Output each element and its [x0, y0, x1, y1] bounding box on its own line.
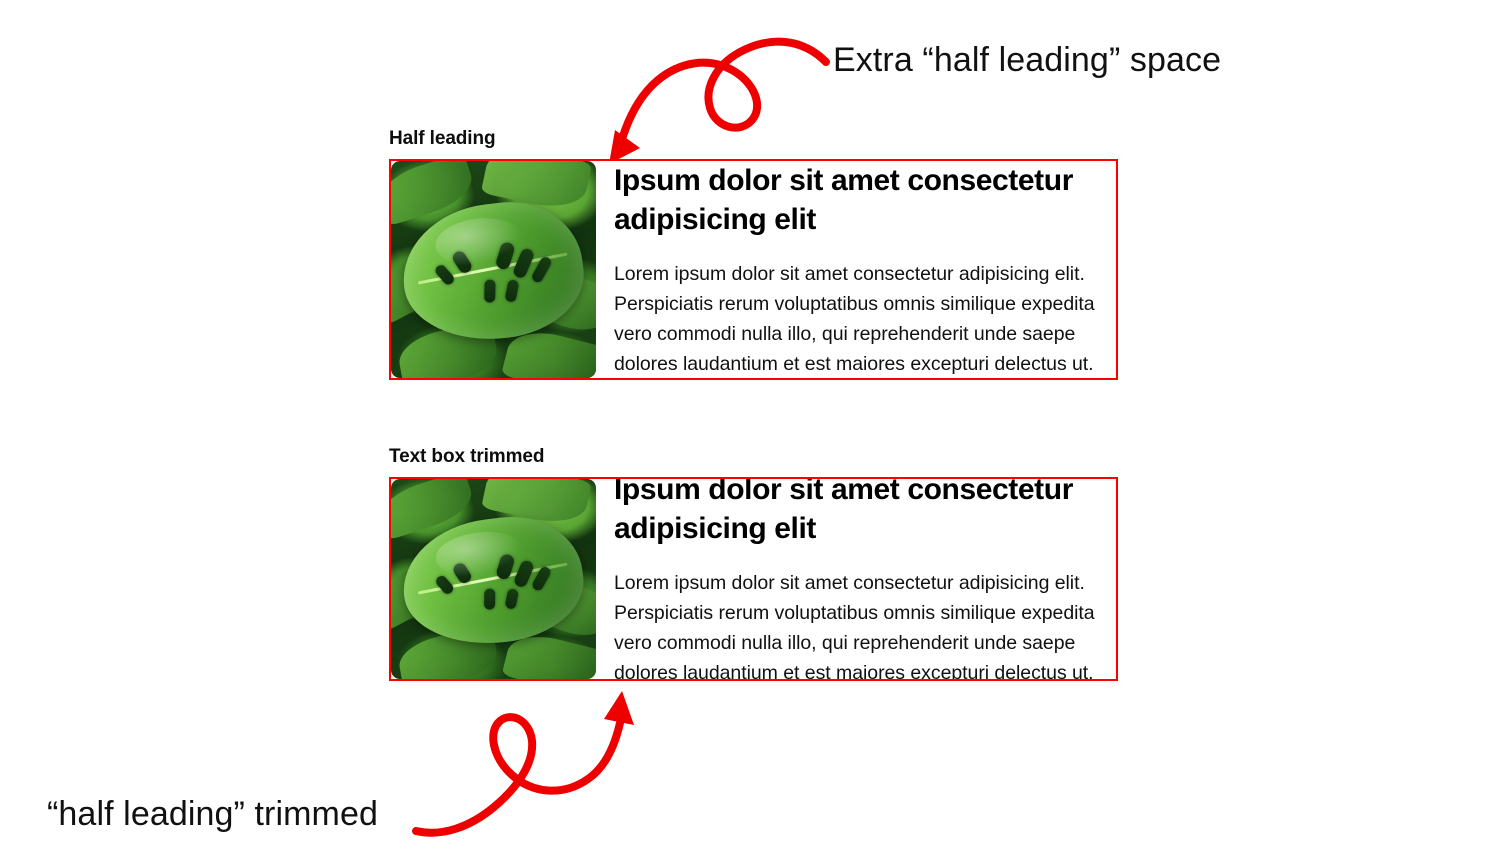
section-label-text-box-trimmed: Text box trimmed [389, 446, 544, 468]
leaf-fenestration [451, 250, 474, 276]
leaf-fenestration [434, 263, 456, 286]
section-label-half-leading: Half leading [389, 128, 495, 150]
leaf-fenestration [505, 279, 520, 302]
card-image-monstera [391, 161, 596, 378]
leaf-fenestration [496, 553, 517, 581]
curved-arrow-up-right-icon [408, 683, 660, 838]
leaf-fenestration [505, 588, 519, 610]
leaf-fenestration [434, 573, 455, 595]
curved-arrow-down-left-icon [588, 22, 838, 174]
annotation-label-extra-half-leading: Extra “half leading” space [833, 41, 1221, 80]
card-heading: Ipsum dolor sit amet consectetur adipisi… [614, 161, 1106, 239]
annotation-label-half-leading-trimmed: “half leading” trimmed [47, 795, 378, 834]
card-image-monstera [391, 479, 596, 679]
card-heading: Ipsum dolor sit amet consectetur adipisi… [614, 477, 1106, 548]
leaf-fenestration [485, 589, 496, 610]
leaf-fenestration [532, 565, 553, 592]
leaf-fenestration [485, 280, 496, 303]
card-text-box-trimmed: Ipsum dolor sit amet consectetur adipisi… [389, 477, 1118, 681]
card-body-text: Lorem ipsum dolor sit amet consectetur a… [614, 568, 1106, 681]
card-text-column: Ipsum dolor sit amet consectetur adipisi… [596, 479, 1116, 681]
card-text-column: Ipsum dolor sit amet consectetur adipisi… [596, 161, 1116, 379]
diagram-canvas: Extra “half leading” space Half leading [0, 0, 1507, 863]
leaf-fenestration [531, 255, 554, 284]
card-half-leading: Ipsum dolor sit amet consectetur adipisi… [389, 159, 1118, 380]
card-body-text: Lorem ipsum dolor sit amet consectetur a… [614, 259, 1106, 379]
leaf-fenestration [451, 561, 473, 586]
